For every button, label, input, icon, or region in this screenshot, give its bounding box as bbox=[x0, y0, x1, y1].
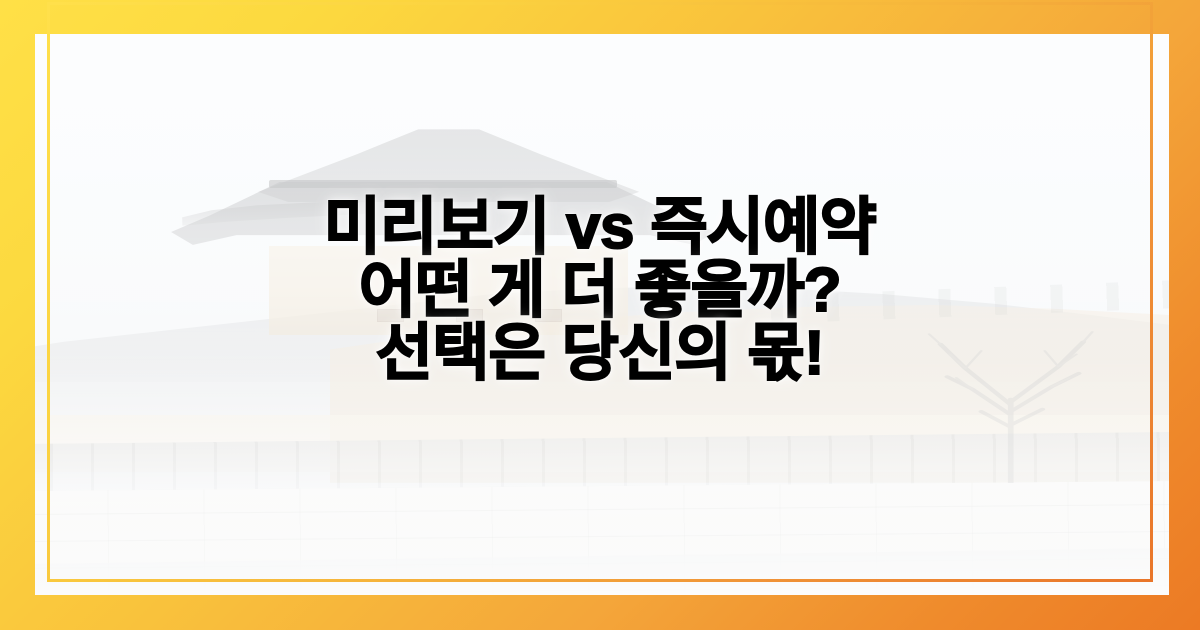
headline: 미리보기 vs 즉시예약 어떤 게 더 좋을까? 선택은 당신의 몫! bbox=[0, 196, 1200, 386]
headline-line-2: 어떤 게 더 좋을까? bbox=[0, 259, 1200, 322]
headline-line-1: 미리보기 vs 즉시예약 bbox=[0, 196, 1200, 259]
headline-line-3: 선택은 당신의 몫! bbox=[0, 322, 1200, 385]
thumbnail-card: 미리보기 vs 즉시예약 어떤 게 더 좋을까? 선택은 당신의 몫! bbox=[0, 0, 1200, 630]
